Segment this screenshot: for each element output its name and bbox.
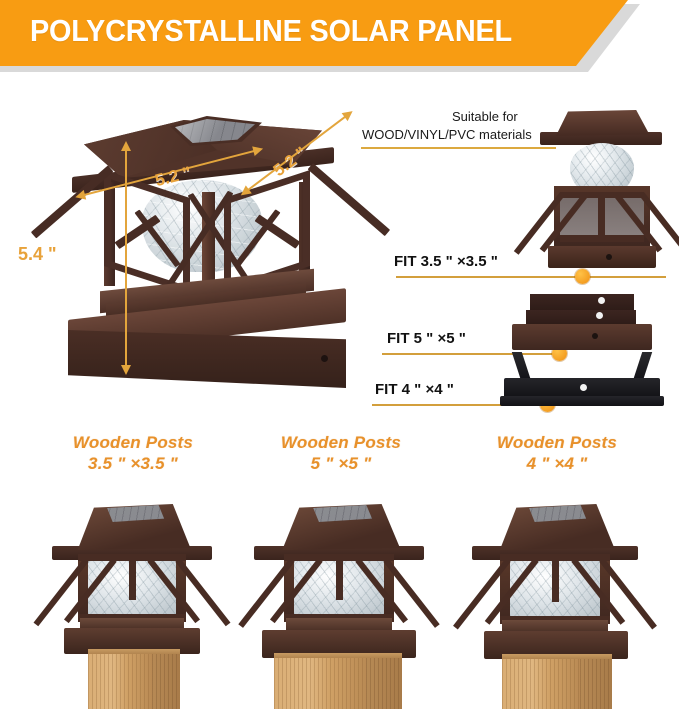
hero-product-image bbox=[62, 108, 352, 408]
sample-image-5 bbox=[254, 494, 424, 709]
wooden-post-face-right bbox=[366, 656, 402, 709]
screw-hole bbox=[580, 384, 587, 391]
sample-image-4 bbox=[472, 494, 638, 709]
sample-title-line2: 4 " ×4 " bbox=[444, 453, 670, 474]
sample-title-line1: Wooden Posts bbox=[444, 432, 670, 453]
height-dimension-label: 5.4 " bbox=[18, 244, 57, 265]
base-plate-front bbox=[68, 330, 346, 388]
lattice-bar bbox=[308, 163, 390, 236]
adapter-plate-5inch bbox=[512, 324, 652, 350]
lantern-cage bbox=[78, 554, 186, 622]
sample-image-3-5 bbox=[52, 494, 212, 709]
sample-panel-4: Wooden Posts 4 " ×4 " bbox=[444, 432, 670, 709]
screw-hole bbox=[592, 333, 598, 339]
fit-label-3-5: FIT 3.5 " ×3.5 " bbox=[394, 253, 498, 270]
screw-hole bbox=[321, 355, 328, 362]
screw-hole bbox=[596, 312, 603, 319]
fit-label-5: FIT 5 " ×5 " bbox=[387, 330, 466, 347]
lantern-cage bbox=[104, 174, 310, 286]
adapter-leg-left bbox=[512, 352, 530, 378]
adapter-base-4inch bbox=[504, 378, 660, 398]
exploded-adapter-5inch bbox=[512, 294, 652, 350]
product-infographic: POLYCRYSTALLINE SOLAR PANEL bbox=[0, 0, 679, 709]
wooden-post-top bbox=[274, 653, 402, 658]
wooden-post-face-left bbox=[88, 652, 152, 709]
lattice-bar bbox=[552, 554, 559, 602]
lantern-cage bbox=[500, 554, 610, 624]
wooden-post-face-right bbox=[580, 657, 612, 709]
wooden-post-top bbox=[502, 654, 612, 659]
exploded-adapter-4inch bbox=[500, 352, 664, 410]
lattice-bar bbox=[336, 554, 343, 600]
sample-title-line2: 5 " ×5 " bbox=[228, 453, 454, 474]
sample-panel-3-5: Wooden Posts 3.5 " ×3.5 " bbox=[20, 432, 246, 709]
sample-panel-5: Wooden Posts 5 " ×5 " bbox=[228, 432, 454, 709]
header-banner: POLYCRYSTALLINE SOLAR PANEL bbox=[0, 0, 679, 72]
sample-title-line1: Wooden Posts bbox=[20, 432, 246, 453]
adapter-base-flange bbox=[500, 396, 664, 406]
suitable-for-underline bbox=[361, 147, 556, 149]
lattice-bar bbox=[129, 554, 136, 600]
fit-label-4: FIT 4 " ×4 " bbox=[375, 381, 454, 398]
sample-title-line1: Wooden Posts bbox=[228, 432, 454, 453]
screw-hole bbox=[598, 297, 605, 304]
wooden-post-top bbox=[88, 649, 180, 654]
arrow-head-down-icon bbox=[121, 365, 131, 375]
screw-hole bbox=[606, 254, 612, 260]
wooden-post-face-right bbox=[152, 652, 180, 709]
exploded-body-assembly bbox=[540, 110, 664, 280]
sample-title-line2: 3.5 " ×3.5 " bbox=[20, 453, 246, 474]
suitable-for-line2: WOOD/VINYL/PVC materials bbox=[362, 126, 532, 143]
page-title: POLYCRYSTALLINE SOLAR PANEL bbox=[30, 13, 512, 49]
suitable-for-line1: Suitable for bbox=[452, 108, 518, 125]
exploded-lattice-cage bbox=[554, 186, 650, 248]
lattice-bar bbox=[598, 192, 605, 242]
wooden-post-face-left bbox=[502, 657, 580, 709]
wooden-post-face-left bbox=[274, 656, 366, 709]
lantern-cage bbox=[284, 554, 394, 622]
arrow-head-up-icon bbox=[121, 141, 131, 151]
adapter-leg-right bbox=[634, 352, 652, 378]
exploded-body-base bbox=[548, 246, 656, 268]
